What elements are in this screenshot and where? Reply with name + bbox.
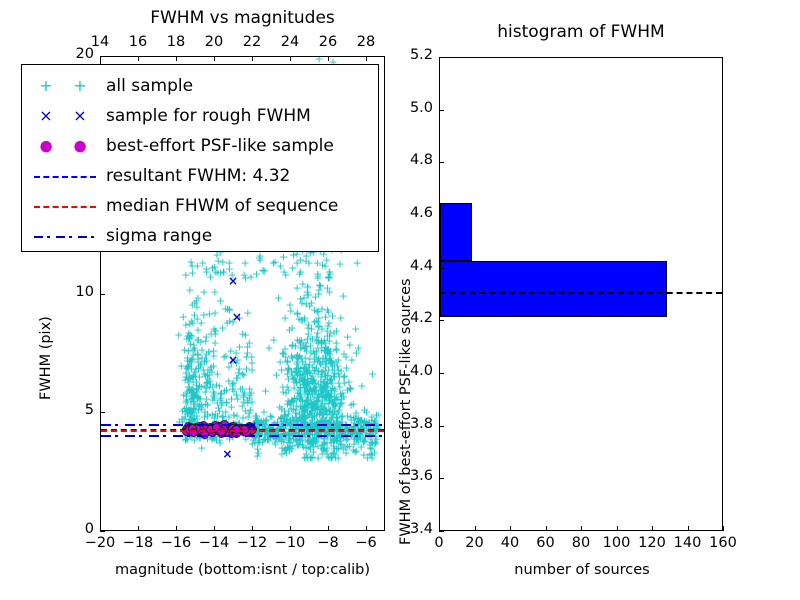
scatter-point-all-sample: + — [313, 307, 322, 318]
scatter-point-all-sample: + — [210, 389, 219, 400]
scatter-point-all-sample: + — [302, 381, 311, 392]
scatter-point-all-sample: + — [305, 407, 314, 418]
scatter-point-all-sample: + — [271, 437, 280, 448]
scatter-point-all-sample: + — [324, 271, 333, 282]
scatter-point-all-sample: + — [312, 331, 321, 342]
scatter-point-all-sample: + — [332, 357, 341, 368]
histogram-bar-1[interactable] — [440, 203, 472, 261]
scatter-point-all-sample: + — [193, 390, 202, 401]
scatter-point-all-sample: + — [301, 413, 310, 424]
scatter-point-all-sample: + — [303, 378, 312, 389]
scatter-point-all-sample: + — [311, 401, 320, 412]
scatter-point-all-sample: + — [231, 348, 240, 359]
scatter-point-all-sample: + — [178, 405, 187, 416]
scatter-point-all-sample: + — [247, 351, 256, 362]
scatter-point-all-sample: + — [189, 395, 198, 406]
scatter-point-all-sample: + — [324, 388, 333, 399]
scatter-point-all-sample: + — [232, 410, 241, 421]
scatter-point-all-sample: + — [289, 383, 298, 394]
scatter-point-all-sample: + — [351, 447, 360, 458]
scatter-point-all-sample: + — [187, 355, 196, 366]
scatter-point-all-sample: + — [322, 344, 331, 355]
scatter-point-all-sample: + — [284, 418, 293, 429]
scatter-point-all-sample: + — [225, 258, 234, 269]
scatter-point-all-sample: + — [308, 402, 317, 413]
scatter-point-all-sample: + — [318, 384, 327, 395]
scatter-point-all-sample: + — [225, 264, 234, 275]
scatter-point-all-sample: + — [302, 290, 311, 301]
scatter-point-all-sample: + — [347, 355, 356, 366]
scatter-point-all-sample: + — [283, 369, 292, 380]
scatter-point-all-sample: + — [189, 386, 198, 397]
scatter-point-all-sample: + — [203, 370, 212, 381]
scatter-point-all-sample: + — [298, 375, 307, 386]
scatter-point-all-sample: + — [193, 384, 202, 395]
scatter-point-all-sample: + — [227, 357, 236, 368]
scatter-point-all-sample: + — [300, 453, 309, 464]
scatter-point-all-sample: + — [194, 405, 203, 416]
scatter-point-all-sample: + — [325, 418, 334, 429]
scatter-point-all-sample: + — [332, 436, 341, 447]
scatter-point-all-sample: + — [214, 402, 223, 413]
scatter-point-all-sample: + — [325, 394, 334, 405]
scatter-point-all-sample: + — [233, 373, 242, 384]
scatter-point-all-sample: + — [329, 399, 338, 410]
scatter-point-all-sample: + — [192, 384, 201, 395]
histogram-bar-0[interactable] — [440, 261, 667, 318]
left-top-xtick-mark — [100, 56, 101, 61]
scatter-point-all-sample: + — [180, 404, 189, 415]
scatter-point-all-sample: + — [302, 364, 311, 375]
scatter-point-all-sample: + — [274, 431, 283, 442]
scatter-point-all-sample: + — [323, 379, 332, 390]
scatter-point-all-sample: + — [309, 412, 318, 423]
scatter-point-all-sample: + — [208, 394, 217, 405]
scatter-point-all-sample: + — [255, 251, 264, 262]
scatter-point-all-sample: + — [205, 308, 214, 319]
legend-label-4: median FHWM of sequence — [106, 196, 338, 216]
scatter-point-all-sample: + — [333, 360, 342, 371]
scatter-point-all-sample: + — [238, 412, 247, 423]
scatter-point-all-sample: + — [307, 297, 316, 308]
scatter-point-all-sample: + — [322, 408, 331, 419]
scatter-point-all-sample: + — [314, 401, 323, 412]
scatter-point-all-sample: + — [299, 292, 308, 303]
scatter-point-all-sample: + — [367, 437, 376, 448]
legend-marker-4-icon — [28, 195, 106, 217]
scatter-point-all-sample: + — [336, 366, 345, 377]
scatter-point-all-sample: + — [369, 417, 378, 428]
scatter-point-all-sample: + — [298, 410, 307, 421]
scatter-point-all-sample: + — [317, 390, 326, 401]
scatter-point-all-sample: + — [296, 371, 305, 382]
scatter-point-all-sample: + — [187, 357, 196, 368]
scatter-point-all-sample: + — [184, 405, 193, 416]
scatter-point-all-sample: + — [238, 369, 247, 380]
scatter-point-all-sample: + — [330, 386, 339, 397]
scatter-point-all-sample: + — [338, 388, 347, 399]
hist-ytick-mark — [439, 162, 444, 163]
scatter-point-all-sample: + — [239, 389, 248, 400]
scatter-point-all-sample: + — [326, 375, 335, 386]
scatter-point-all-sample: + — [189, 385, 198, 396]
scatter-point-all-sample: + — [326, 355, 335, 366]
scatter-point-all-sample: + — [271, 438, 280, 449]
scatter-point-all-sample: + — [284, 409, 293, 420]
scatter-point-all-sample: + — [303, 377, 312, 388]
scatter-point-all-sample: + — [188, 353, 197, 364]
scatter-point-all-sample: + — [305, 409, 314, 420]
scatter-point-all-sample: + — [334, 404, 343, 415]
scatter-point-all-sample: + — [205, 376, 214, 387]
scatter-point-all-sample: + — [220, 351, 229, 362]
scatter-point-all-sample: + — [350, 418, 359, 429]
scatter-point-all-sample: + — [300, 373, 309, 384]
scatter-point-all-sample: + — [358, 418, 367, 429]
scatter-point-all-sample: + — [259, 407, 268, 418]
scatter-point-all-sample: + — [321, 342, 330, 353]
hist-ytick-mark — [439, 57, 444, 58]
scatter-point-all-sample: + — [328, 452, 337, 463]
scatter-point-all-sample: + — [329, 448, 338, 459]
scatter-point-all-sample: + — [292, 364, 301, 375]
scatter-point-all-sample: + — [216, 395, 225, 406]
scatter-point-all-sample: + — [184, 346, 193, 357]
scatter-point-all-sample: + — [267, 412, 276, 423]
left-top-xtick-mark — [176, 56, 177, 61]
scatter-point-all-sample: + — [359, 449, 368, 460]
scatter-point-all-sample: + — [307, 374, 316, 385]
legend-item-1[interactable]: ××sample for rough FWHM — [28, 101, 370, 131]
scatter-point-all-sample: + — [308, 406, 317, 417]
scatter-point-all-sample: + — [312, 392, 321, 403]
scatter-point-all-sample: + — [291, 376, 300, 387]
scatter-point-all-sample: + — [297, 401, 306, 412]
scatter-point-all-sample: + — [305, 368, 314, 379]
scatter-point-all-sample: + — [283, 417, 292, 428]
scatter-point-all-sample: + — [313, 317, 322, 328]
scatter-point-all-sample: + — [196, 361, 205, 372]
scatter-point-all-sample: + — [197, 403, 206, 414]
scatter-point-all-sample: + — [246, 272, 255, 283]
scatter-point-all-sample: + — [255, 436, 264, 447]
scatter-point-all-sample: + — [329, 327, 338, 338]
scatter-point-all-sample: + — [184, 381, 193, 392]
scatter-point-all-sample: + — [197, 352, 206, 363]
scatter-point-all-sample: + — [321, 370, 330, 381]
scatter-point-all-sample: + — [303, 367, 312, 378]
scatter-point-all-sample: + — [217, 388, 226, 399]
scatter-point-all-sample: + — [279, 436, 288, 447]
scatter-point-all-sample: + — [181, 371, 190, 382]
scatter-point-all-sample: + — [346, 384, 355, 395]
scatter-point-all-sample: + — [337, 397, 346, 408]
scatter-point-all-sample: + — [306, 453, 315, 464]
scatter-point-all-sample: + — [177, 361, 186, 372]
scatter-point-all-sample: + — [298, 439, 307, 450]
scatter-point-all-sample: + — [332, 417, 341, 428]
scatter-point-all-sample: + — [330, 372, 339, 383]
scatter-point-all-sample: + — [213, 268, 222, 279]
scatter-point-all-sample: + — [246, 404, 255, 415]
scatter-point-all-sample: + — [334, 355, 343, 366]
scatter-point-all-sample: + — [304, 328, 313, 339]
scatter-point-all-sample: + — [283, 381, 292, 392]
legend-item-0[interactable]: ++all sample — [28, 71, 370, 101]
scatter-point-all-sample: + — [314, 391, 323, 402]
scatter-point-all-sample: + — [352, 432, 361, 443]
left-plot-ylabel: FWHM (pix) — [38, 316, 54, 400]
scatter-point-all-sample: + — [182, 403, 191, 414]
scatter-point-all-sample: + — [321, 405, 330, 416]
scatter-point-all-sample: + — [291, 341, 300, 352]
legend-item-5[interactable]: sigma range — [28, 221, 370, 251]
scatter-point-all-sample: + — [283, 441, 292, 452]
scatter-point-all-sample: + — [304, 387, 313, 398]
scatter-point-all-sample: + — [211, 328, 220, 339]
scatter-point-all-sample: + — [252, 411, 261, 422]
scatter-point-all-sample: + — [252, 413, 261, 424]
scatter-point-all-sample: + — [193, 391, 202, 402]
scatter-point-all-sample: + — [188, 393, 197, 404]
scatter-point-all-sample: + — [228, 317, 237, 328]
scatter-point-all-sample: + — [296, 383, 305, 394]
scatter-point-all-sample: + — [179, 389, 188, 400]
scatter-point-all-sample: + — [304, 390, 313, 401]
hist-ytick-mark — [439, 373, 444, 374]
scatter-point-all-sample: + — [308, 333, 317, 344]
scatter-point-all-sample: + — [187, 260, 196, 271]
scatter-point-all-sample: + — [326, 406, 335, 417]
scatter-point-all-sample: + — [303, 334, 312, 345]
scatter-point-all-sample: + — [311, 364, 320, 375]
scatter-point-all-sample: + — [314, 285, 323, 296]
scatter-point-all-sample: + — [293, 350, 302, 361]
scatter-point-all-sample: + — [321, 337, 330, 348]
hist-xtick-mark — [652, 526, 653, 531]
scatter-point-all-sample: + — [186, 338, 195, 349]
scatter-point-all-sample: + — [296, 395, 305, 406]
scatter-point-all-sample: + — [183, 363, 192, 374]
histogram-axes[interactable] — [439, 57, 723, 531]
scatter-point-all-sample: + — [313, 396, 322, 407]
scatter-point-all-sample: + — [300, 418, 309, 429]
scatter-point-all-sample: + — [186, 403, 195, 414]
scatter-point-all-sample: + — [284, 442, 293, 453]
scatter-point-all-sample: + — [208, 263, 217, 274]
scatter-point-all-sample: + — [319, 402, 328, 413]
scatter-point-all-sample: + — [285, 325, 294, 336]
scatter-point-all-sample: + — [309, 442, 318, 453]
scatter-point-all-sample: + — [288, 395, 297, 406]
legend-item-4[interactable]: median FHWM of sequence — [28, 191, 370, 221]
scatter-point-all-sample: + — [194, 363, 203, 374]
scatter-point-all-sample: + — [281, 409, 290, 420]
left-ytick-label: 10 — [52, 284, 94, 300]
scatter-point-all-sample: + — [302, 341, 311, 352]
scatter-point-all-sample: + — [276, 413, 285, 424]
scatter-point-all-sample: + — [303, 369, 312, 380]
scatter-point-all-sample: + — [331, 398, 340, 409]
scatter-point-all-sample: + — [203, 410, 212, 421]
scatter-point-all-sample: + — [298, 403, 307, 414]
scatter-point-all-sample: + — [302, 443, 311, 454]
scatter-point-all-sample: + — [201, 387, 210, 398]
scatter-point-all-sample: + — [224, 376, 233, 387]
scatter-point-all-sample: + — [191, 389, 200, 400]
scatter-point-all-sample: + — [346, 384, 355, 395]
scatter-point-all-sample: + — [298, 369, 307, 380]
scatter-point-all-sample: + — [294, 366, 303, 377]
scatter-point-all-sample: + — [194, 356, 203, 367]
scatter-point-all-sample: + — [197, 442, 206, 453]
scatter-point-all-sample: + — [253, 438, 262, 449]
scatter-point-all-sample: + — [289, 372, 298, 383]
scatter-point-all-sample: + — [228, 379, 237, 390]
scatter-point-all-sample: + — [281, 445, 290, 456]
left-top-xtick-mark — [290, 56, 291, 61]
scatter-point-all-sample: + — [223, 303, 232, 314]
scatter-point-all-sample: + — [190, 367, 199, 378]
scatter-point-all-sample: + — [307, 397, 316, 408]
scatter-point-all-sample: + — [305, 301, 314, 312]
scatter-point-all-sample: + — [283, 396, 292, 407]
scatter-point-all-sample: + — [316, 371, 325, 382]
scatter-point-all-sample: + — [333, 432, 342, 443]
scatter-point-all-sample: + — [223, 318, 232, 329]
legend-label-3: resultant FWHM: 4.32 — [106, 166, 290, 186]
scatter-point-all-sample: + — [288, 323, 297, 334]
scatter-point-all-sample: + — [322, 389, 331, 400]
scatter-point-all-sample: + — [215, 381, 224, 392]
scatter-point-all-sample: + — [339, 372, 348, 383]
scatter-point-all-sample: + — [300, 414, 309, 425]
scatter-point-all-sample: + — [239, 396, 248, 407]
scatter-point-all-sample: + — [329, 398, 338, 409]
scatter-point-all-sample: + — [243, 348, 252, 359]
scatter-point-all-sample: + — [314, 453, 323, 464]
scatter-point-all-sample: + — [310, 304, 319, 315]
scatter-point-all-sample: + — [209, 386, 218, 397]
scatter-point-all-sample: + — [337, 393, 346, 404]
scatter-point-all-sample: + — [289, 403, 298, 414]
scatter-point-all-sample: + — [362, 406, 371, 417]
scatter-point-all-sample: + — [334, 365, 343, 376]
scatter-point-all-sample: + — [185, 404, 194, 415]
scatter-point-all-sample: + — [322, 392, 331, 403]
scatter-point-all-sample: + — [329, 441, 338, 452]
scatter-point-all-sample: + — [295, 336, 304, 347]
scatter-point-all-sample: + — [229, 378, 238, 389]
scatter-point-all-sample: + — [353, 257, 362, 268]
scatter-point-all-sample: + — [309, 382, 318, 393]
left-xtick-mark — [290, 526, 291, 531]
scatter-point-all-sample: + — [192, 379, 201, 390]
legend-item-3[interactable]: resultant FWHM: 4.32 — [28, 161, 370, 191]
scatter-point-all-sample: + — [303, 282, 312, 293]
scatter-point-all-sample: + — [299, 378, 308, 389]
scatter-point-all-sample: + — [292, 351, 301, 362]
scatter-point-all-sample: + — [219, 267, 228, 278]
scatter-point-all-sample: + — [308, 387, 317, 398]
legend-item-2[interactable]: ●●best-effort PSF-like sample — [28, 131, 370, 161]
scatter-point-all-sample: + — [337, 392, 346, 403]
scatter-point-all-sample: + — [225, 315, 234, 326]
scatter-point-all-sample: + — [366, 443, 375, 454]
scatter-point-all-sample: + — [292, 358, 301, 369]
scatter-point-all-sample: + — [341, 447, 350, 458]
left-xtick-mark — [214, 526, 215, 531]
scatter-point-all-sample: + — [368, 438, 377, 449]
scatter-point-all-sample: + — [354, 343, 363, 354]
scatter-point-all-sample: + — [321, 383, 330, 394]
scatter-point-all-sample: + — [222, 398, 231, 409]
scatter-point-all-sample: + — [330, 367, 339, 378]
scatter-point-all-sample: + — [187, 407, 196, 418]
scatter-point-all-sample: + — [250, 437, 259, 448]
scatter-point-all-sample: + — [182, 372, 191, 383]
scatter-point-all-sample: + — [298, 278, 307, 289]
scatter-point-all-sample: + — [308, 371, 317, 382]
scatter-point-all-sample: + — [255, 253, 264, 264]
scatter-point-all-sample: + — [344, 377, 353, 388]
scatter-point-all-sample: + — [232, 389, 241, 400]
scatter-point-all-sample: + — [314, 354, 323, 365]
scatter-point-all-sample: + — [287, 340, 296, 351]
scatter-point-all-sample: + — [184, 374, 193, 385]
scatter-point-all-sample: + — [334, 442, 343, 453]
scatter-point-all-sample: + — [316, 359, 325, 370]
scatter-point-all-sample: + — [242, 363, 251, 374]
scatter-point-all-sample: + — [313, 404, 322, 415]
scatter-point-all-sample: + — [304, 257, 313, 268]
scatter-point-all-sample: + — [311, 351, 320, 362]
scatter-point-all-sample: + — [287, 404, 296, 415]
scatter-point-all-sample: + — [310, 411, 319, 422]
scatter-point-all-sample: + — [318, 412, 327, 423]
scatter-point-all-sample: + — [302, 387, 311, 398]
scatter-point-all-sample: + — [224, 303, 233, 314]
scatter-point-all-sample: + — [321, 311, 330, 322]
scatter-point-all-sample: + — [314, 388, 323, 399]
left-xtick-mark — [328, 526, 329, 531]
scatter-point-all-sample: + — [200, 356, 209, 367]
scatter-point-all-sample: + — [216, 438, 225, 449]
scatter-point-all-sample: + — [292, 258, 301, 269]
hist-xtick-mark — [581, 526, 582, 531]
scatter-point-all-sample: + — [248, 438, 257, 449]
scatter-point-all-sample: + — [292, 435, 301, 446]
scatter-point-all-sample: + — [318, 259, 327, 270]
scatter-point-all-sample: + — [334, 378, 343, 389]
scatter-point-all-sample: + — [328, 396, 337, 407]
scatter-point-all-sample: + — [325, 335, 334, 346]
scatter-point-all-sample: + — [193, 313, 202, 324]
scatter-point-all-sample: + — [308, 362, 317, 373]
scatter-point-all-sample: + — [320, 370, 329, 381]
scatter-point-all-sample: + — [307, 386, 316, 397]
left-top-xtick-label: 24 — [270, 34, 310, 50]
scatter-point-all-sample: + — [199, 287, 208, 298]
scatter-point-all-sample: + — [287, 444, 296, 455]
scatter-point-all-sample: + — [320, 417, 329, 428]
scatter-point-all-sample: + — [312, 436, 321, 447]
scatter-point-all-sample: + — [318, 394, 327, 405]
legend[interactable]: ++all sample××sample for rough FWHM●●bes… — [21, 64, 379, 252]
scatter-point-all-sample: + — [197, 399, 206, 410]
scatter-point-all-sample: + — [210, 262, 219, 273]
scatter-point-all-sample: + — [322, 392, 331, 403]
